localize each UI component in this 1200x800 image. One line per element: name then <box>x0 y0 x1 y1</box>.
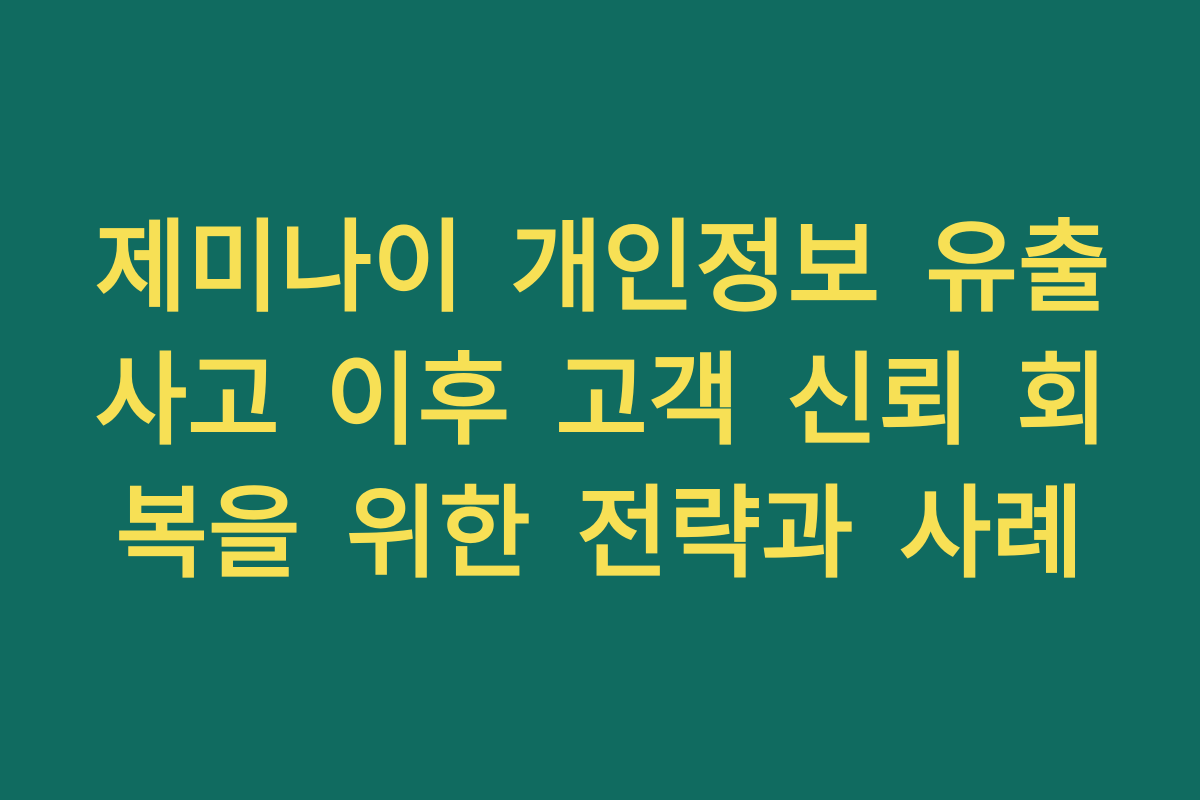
page-title-line-2: 사고 이후 고객 신뢰 회 <box>95 334 1105 467</box>
page-title: 제미나이 개인정보 유출 사고 이후 고객 신뢰 회 복을 위한 전략과 사례 <box>95 201 1105 600</box>
page-title-line-1: 제미나이 개인정보 유출 <box>95 201 1105 334</box>
title-card: 제미나이 개인정보 유출 사고 이후 고객 신뢰 회 복을 위한 전략과 사례 <box>0 0 1200 800</box>
page-title-line-3: 복을 위한 전략과 사례 <box>95 467 1105 600</box>
